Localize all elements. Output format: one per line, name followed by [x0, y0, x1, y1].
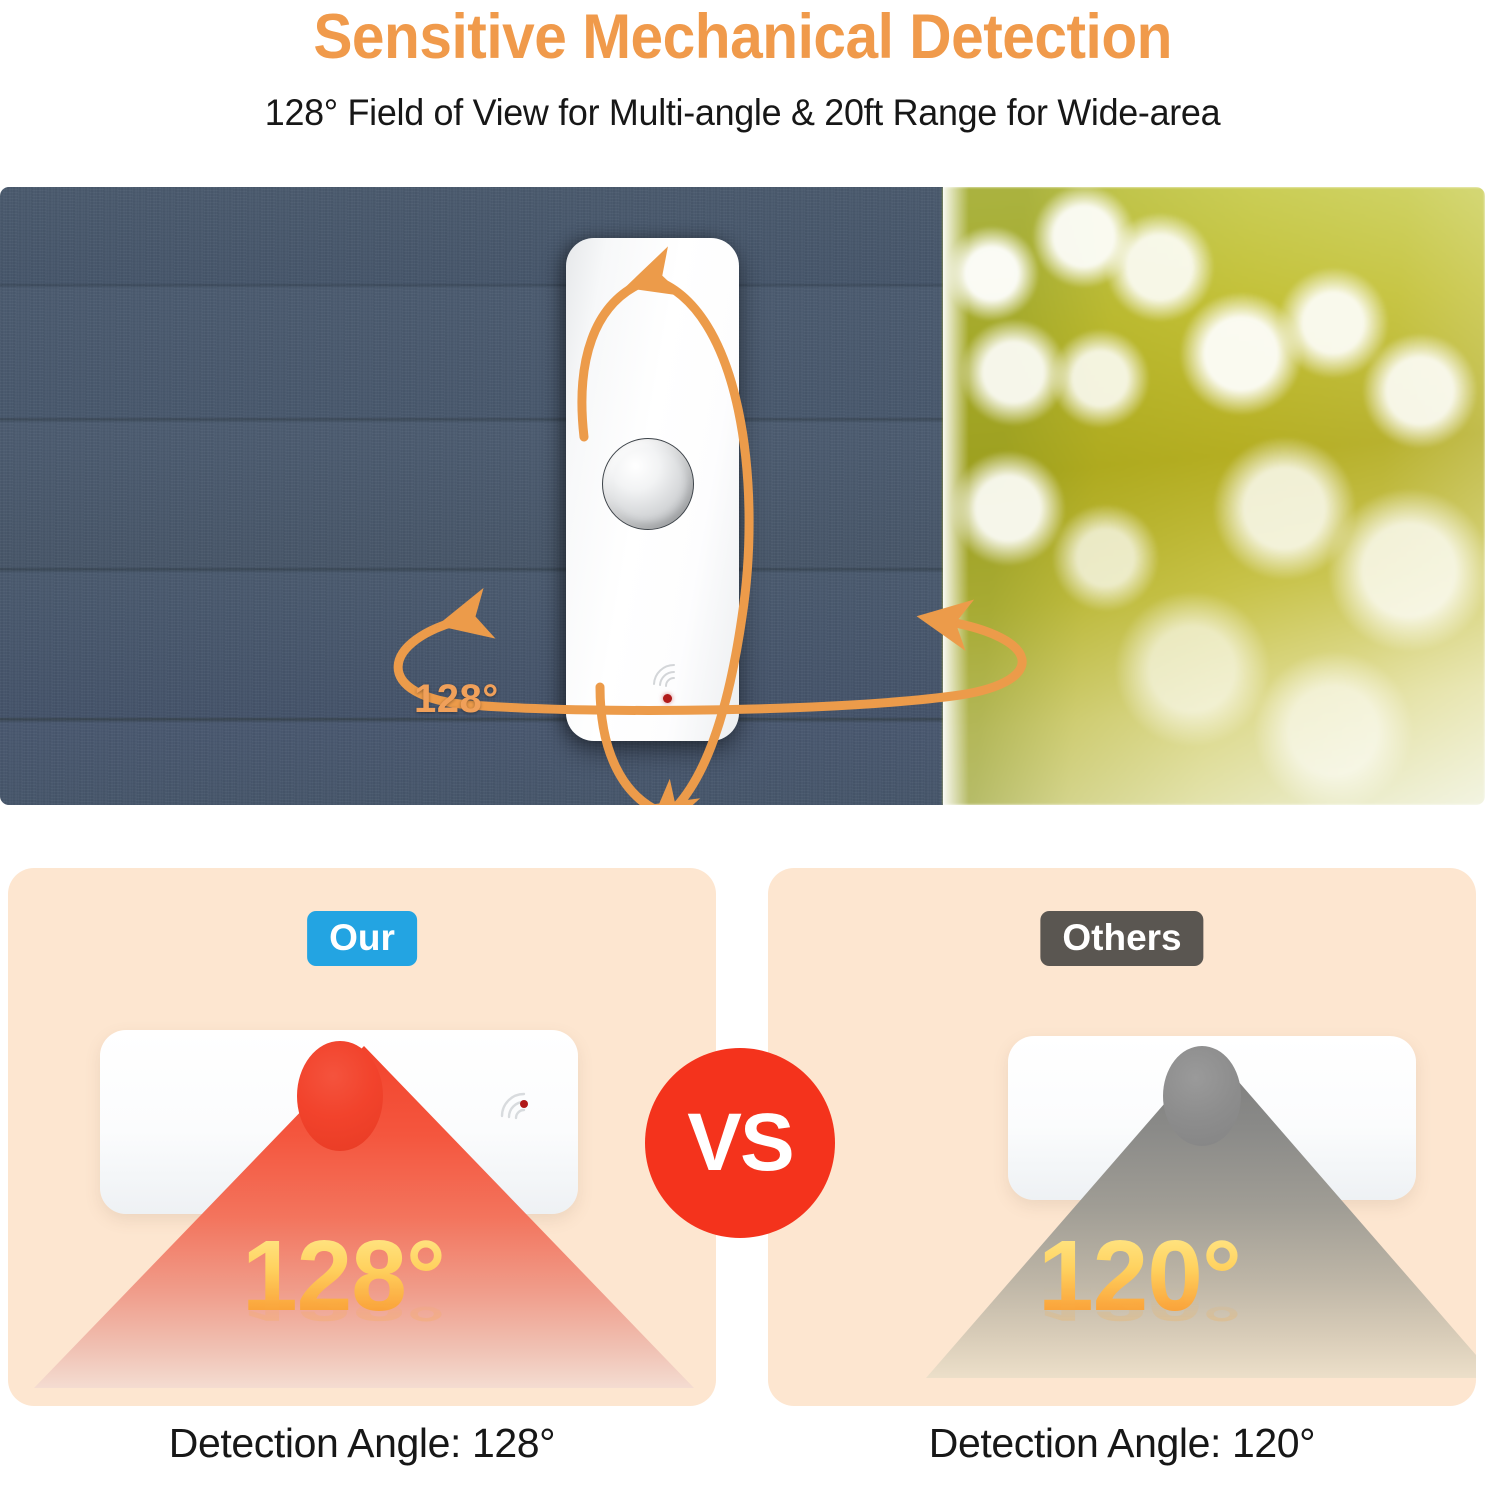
- vs-label: VS: [687, 1102, 792, 1184]
- sensor-dome-our: [297, 1041, 383, 1151]
- led-indicator-icon: [663, 694, 672, 703]
- angle-value-reflection-others: 120°: [1038, 1280, 1241, 1328]
- comparison-panel-our: Our 128° 128°: [8, 868, 716, 1406]
- sensor-device: [566, 238, 739, 741]
- page-subtitle: 128° Field of View for Multi-angle & 20f…: [265, 94, 1220, 131]
- badge-our: Our: [307, 911, 417, 966]
- nature-bokeh-background: [943, 187, 1485, 805]
- comparison-section: Our 128° 128° Others 120° 120° VS: [0, 868, 1485, 1500]
- hero-angle-label: 128°: [414, 677, 499, 722]
- header: Sensitive Mechanical Detection 128° Fiel…: [0, 0, 1485, 160]
- caption-our: Detection Angle: 128°: [8, 1420, 716, 1467]
- sensor-dome-others: [1163, 1046, 1241, 1146]
- vs-badge: VS: [645, 1048, 835, 1238]
- page-title: Sensitive Mechanical Detection: [313, 6, 1172, 69]
- hero-photo: 128°: [0, 187, 1485, 805]
- product-infographic: Sensitive Mechanical Detection 128° Fiel…: [0, 0, 1485, 1500]
- signal-waves-icon: [498, 1090, 540, 1120]
- badge-others: Others: [1040, 911, 1203, 966]
- comparison-panel-others: Others 120° 120°: [768, 868, 1476, 1406]
- angle-value-reflection-our: 128°: [242, 1280, 445, 1328]
- photo-split-edge: [943, 187, 969, 805]
- sensor-dome-icon: [602, 438, 694, 530]
- led-indicator-icon: [520, 1100, 528, 1108]
- caption-others: Detection Angle: 120°: [768, 1420, 1476, 1467]
- signal-waves-icon: [650, 662, 688, 688]
